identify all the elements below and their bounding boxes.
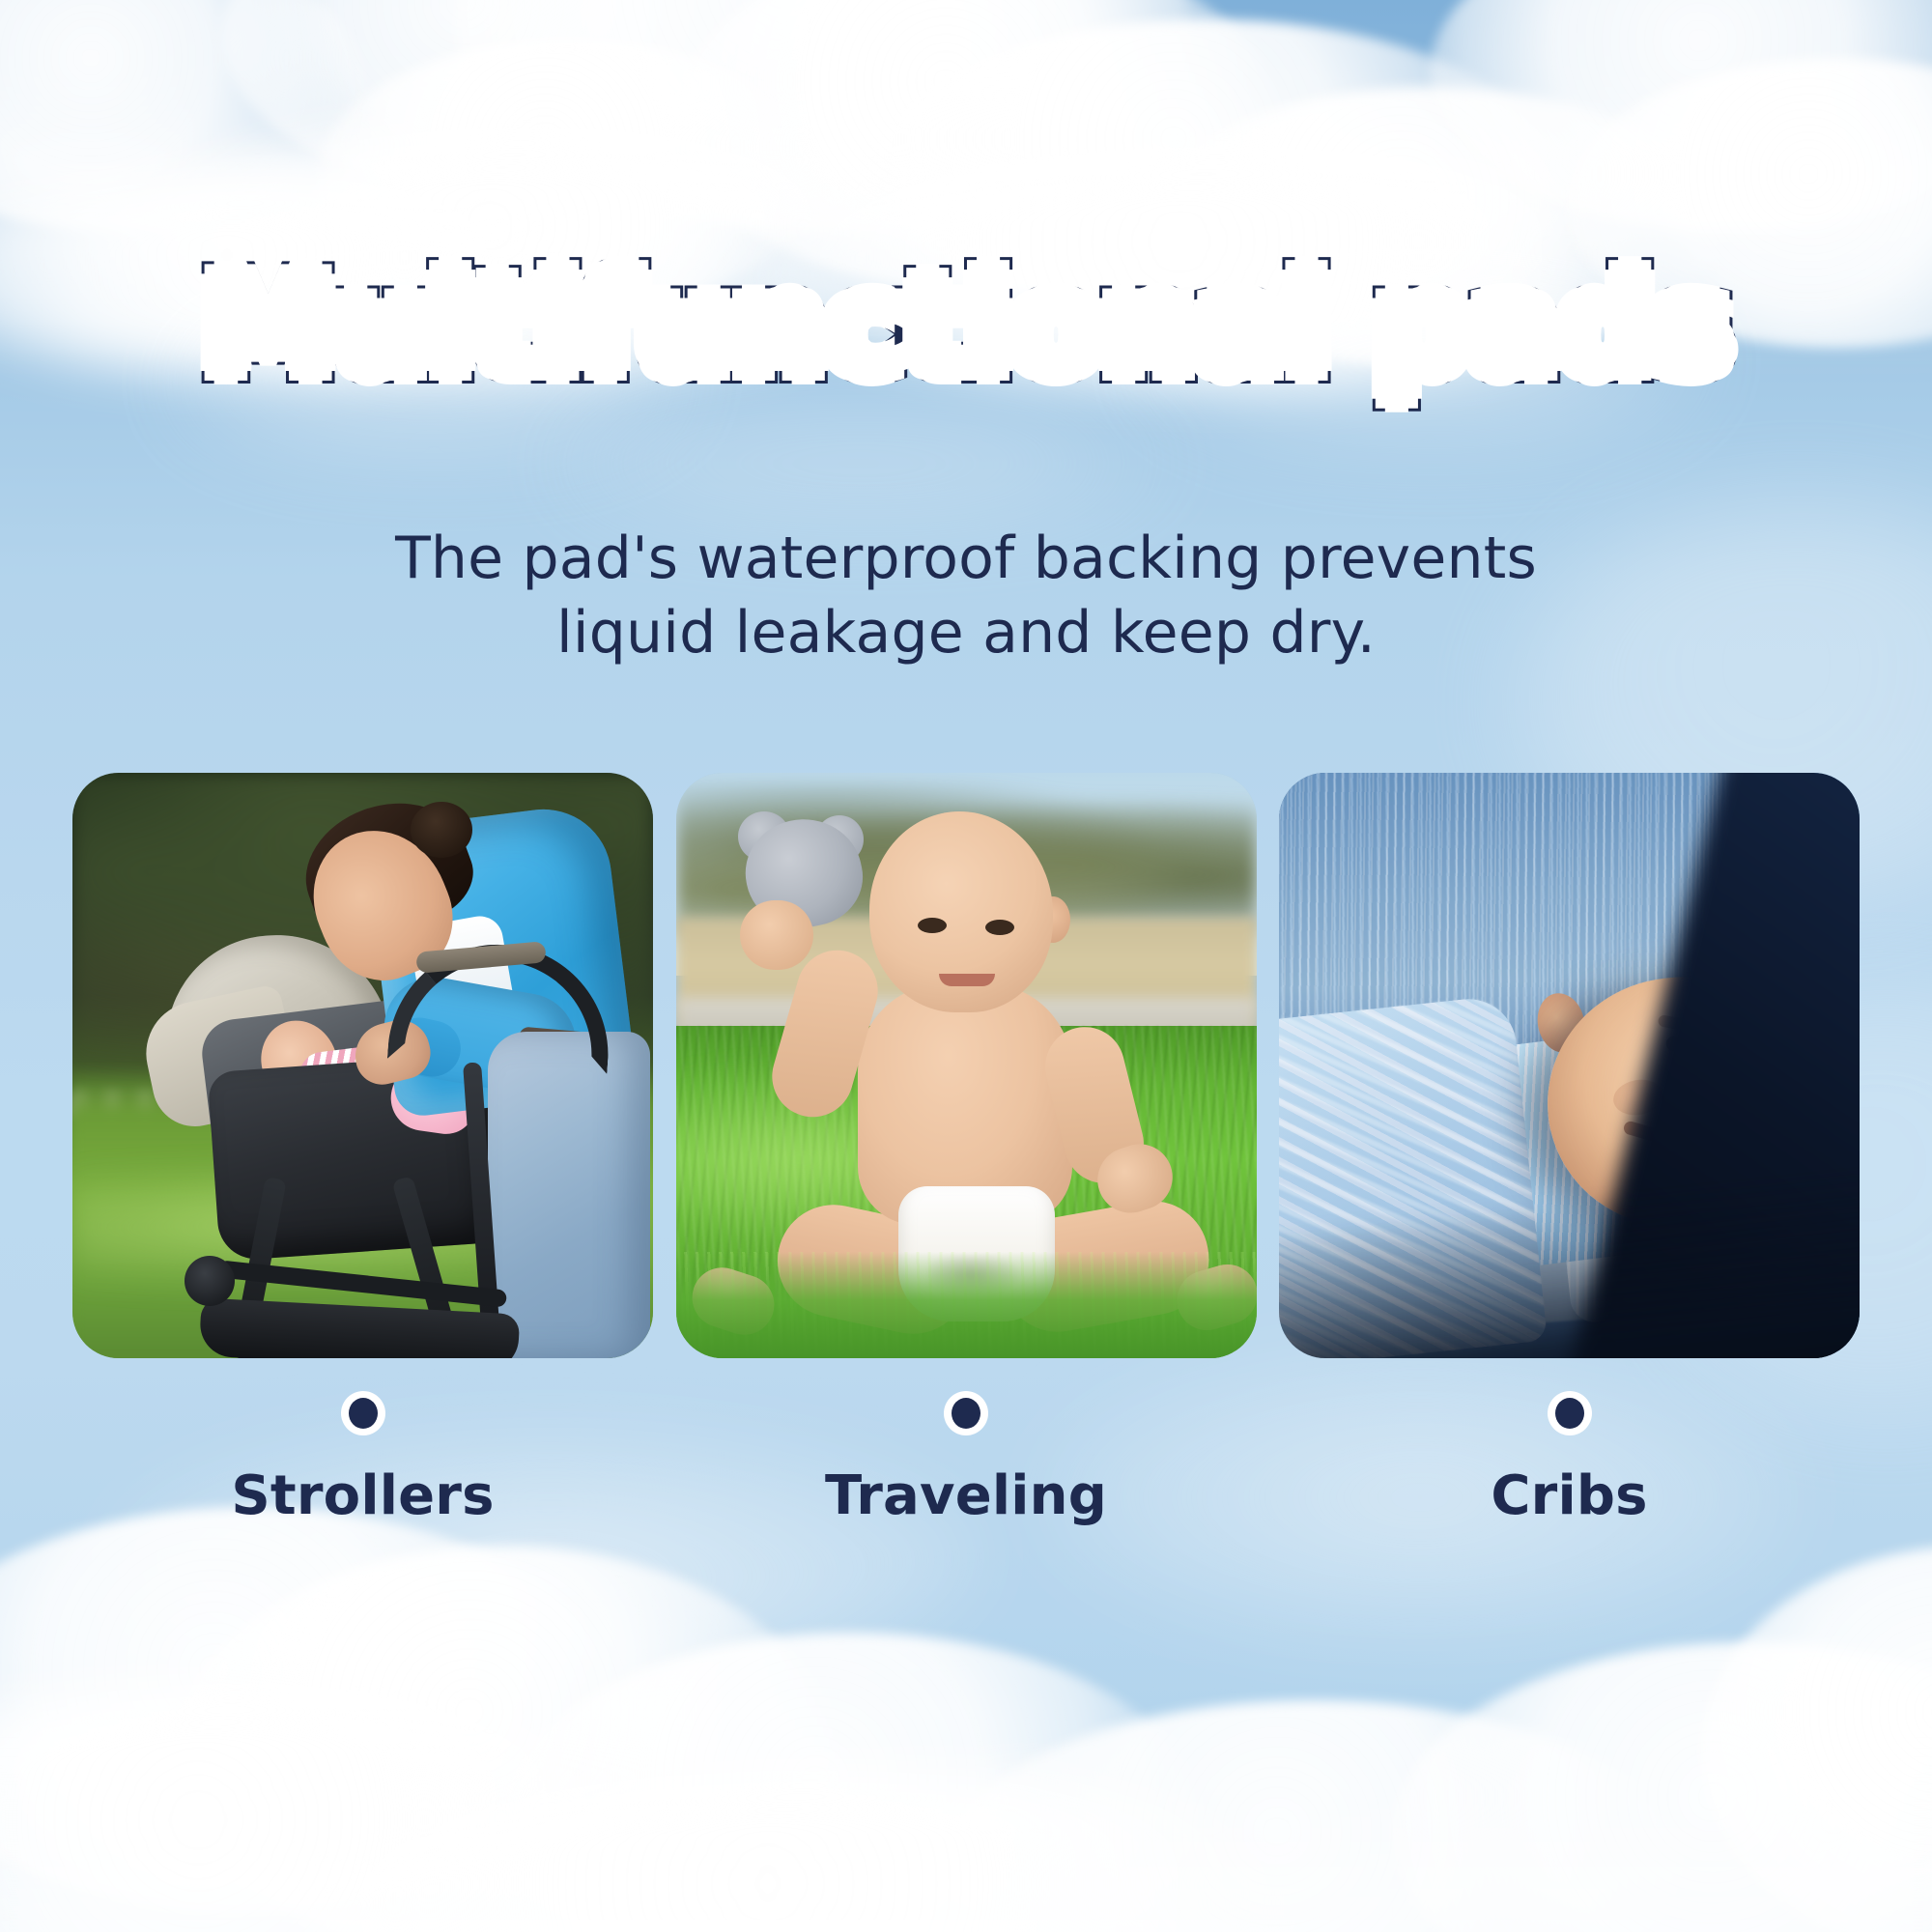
- gallery-captions-row: Strollers Traveling Cribs: [72, 1391, 1860, 1546]
- page-title: Multifunctional pads: [0, 259, 1932, 392]
- bullet-dot-icon: [1548, 1391, 1592, 1435]
- gallery-card-cribs[interactable]: [1279, 773, 1860, 1358]
- bullet-dot-icon: [341, 1391, 385, 1435]
- cloud-wisp: [541, 406, 1217, 522]
- cloud-puff: [174, 1546, 831, 1932]
- caption-label-strollers: Strollers: [72, 1464, 653, 1527]
- cloud-puff: [0, 0, 367, 232]
- cloud-puff: [1391, 1642, 1932, 1932]
- bullet-dot-icon: [944, 1391, 988, 1435]
- cloud-bottom-band: [0, 1768, 1932, 1932]
- baby-raised-fist: [740, 900, 813, 970]
- subtitle-line-1: The pad's waterproof backing prevents: [0, 522, 1932, 596]
- cloud-puff: [1700, 1546, 1932, 1932]
- cloud-puff: [947, 1700, 1681, 1932]
- caption-label-cribs: Cribs: [1279, 1464, 1860, 1527]
- caption-cribs: Cribs: [1279, 1391, 1860, 1546]
- mother-jeans: [488, 1032, 650, 1358]
- page-subtitle: The pad's waterproof backing prevents li…: [0, 522, 1932, 670]
- baby-right-eye: [985, 920, 1014, 935]
- gallery-card-strollers[interactable]: [72, 773, 653, 1358]
- gallery-card-traveling[interactable]: [676, 773, 1257, 1358]
- poster-canvas: Multifunctional pads The pad's waterproo…: [0, 0, 1932, 1932]
- mother-hair-bun: [411, 802, 472, 858]
- caption-label-traveling: Traveling: [676, 1464, 1257, 1527]
- cloud-puff: [454, 0, 1188, 232]
- gallery-cards-row: [72, 773, 1860, 1358]
- cloud-puff: [0, 1681, 676, 1932]
- subtitle-line-2: liquid leakage and keep dry.: [0, 596, 1932, 670]
- caption-strollers: Strollers: [72, 1391, 653, 1546]
- cloud-puff: [676, 0, 1275, 290]
- foreground-grass: [676, 1252, 1257, 1358]
- baby-mouth: [939, 974, 995, 986]
- baby-left-eye: [918, 918, 947, 933]
- cloud-puff: [290, 1768, 1352, 1932]
- cloud-puff: [222, 0, 763, 193]
- cloud-puff: [1430, 0, 1932, 232]
- caption-traveling: Traveling: [676, 1391, 1257, 1546]
- cloud-puff: [502, 1633, 1198, 1932]
- cloud-puff: [0, 1507, 618, 1913]
- stroller-wheel: [185, 1256, 235, 1306]
